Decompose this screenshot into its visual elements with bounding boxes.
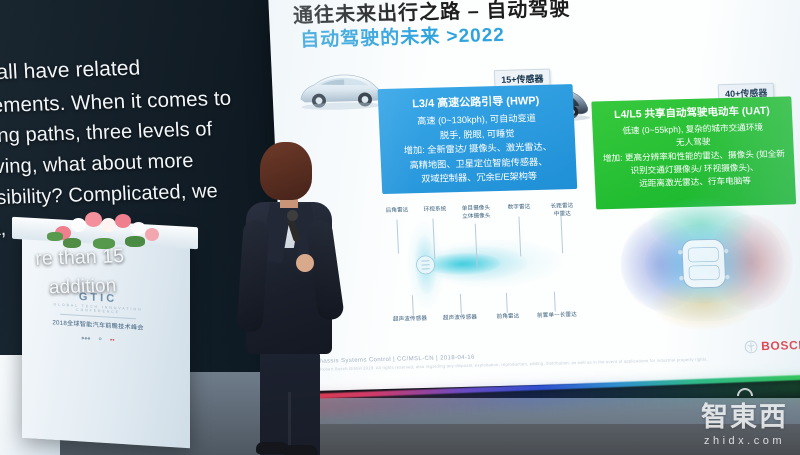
uat-heading: L4/L5 共享自动驾驶电动车 (UAT): [592, 102, 793, 122]
bosch-logo: BOSCH: [744, 338, 800, 354]
hwp-body: 高速 (0~130kph), 可自动变道 脱手, 脱眼, 可睡觉 增加: 全新雷…: [385, 110, 571, 187]
uat-info-box: L4/L5 共享自动驾驶电动车 (UAT) 低速 (0~55kph), 复杂的城…: [591, 96, 796, 209]
slide-subtitle: 自动驾驶的未来 >2022: [300, 20, 506, 52]
sponsor-logo-3: ●●: [110, 337, 115, 342]
sponsor-logos: ◆◆◆ ✿ ●●: [46, 333, 150, 344]
watermark-en: zhidx.com: [701, 435, 788, 447]
hwp-heading: L3/4 高速公路引导 (HWP): [378, 91, 574, 112]
hwp-sensor-diagram: 后角雷达 环视系统 单目摄像头 立体摄像头 数字雷达 长距雷达 中雷达 超声波传…: [378, 199, 599, 334]
watermark-cn: 智東西: [701, 395, 788, 434]
sponsor-logo-1: ◆◆◆: [81, 335, 90, 341]
uat-sensor-diagram: [600, 193, 800, 333]
subtitle-text-block: on all have related uirements. When it c…: [0, 48, 310, 305]
sedan-car-illustration: [294, 67, 388, 113]
presenter-shoe-right: [284, 445, 318, 455]
hwp-info-box: L3/4 高速公路引导 (HWP) 高速 (0~130kph), 可自动变道 脱…: [378, 84, 578, 194]
bosch-wordmark: BOSCH: [761, 338, 800, 353]
watermark: 智東西 zhidx.com: [701, 395, 788, 447]
stage-scene: on all have related uirements. When it c…: [0, 0, 800, 455]
bosch-anchor-icon: [744, 340, 758, 353]
sponsor-logo-2: ✿: [99, 336, 102, 341]
uat-body: 低速 (0~55kph), 复杂的城市交通环境 无人驾驶 增加: 更高分辨率和性…: [597, 120, 790, 191]
